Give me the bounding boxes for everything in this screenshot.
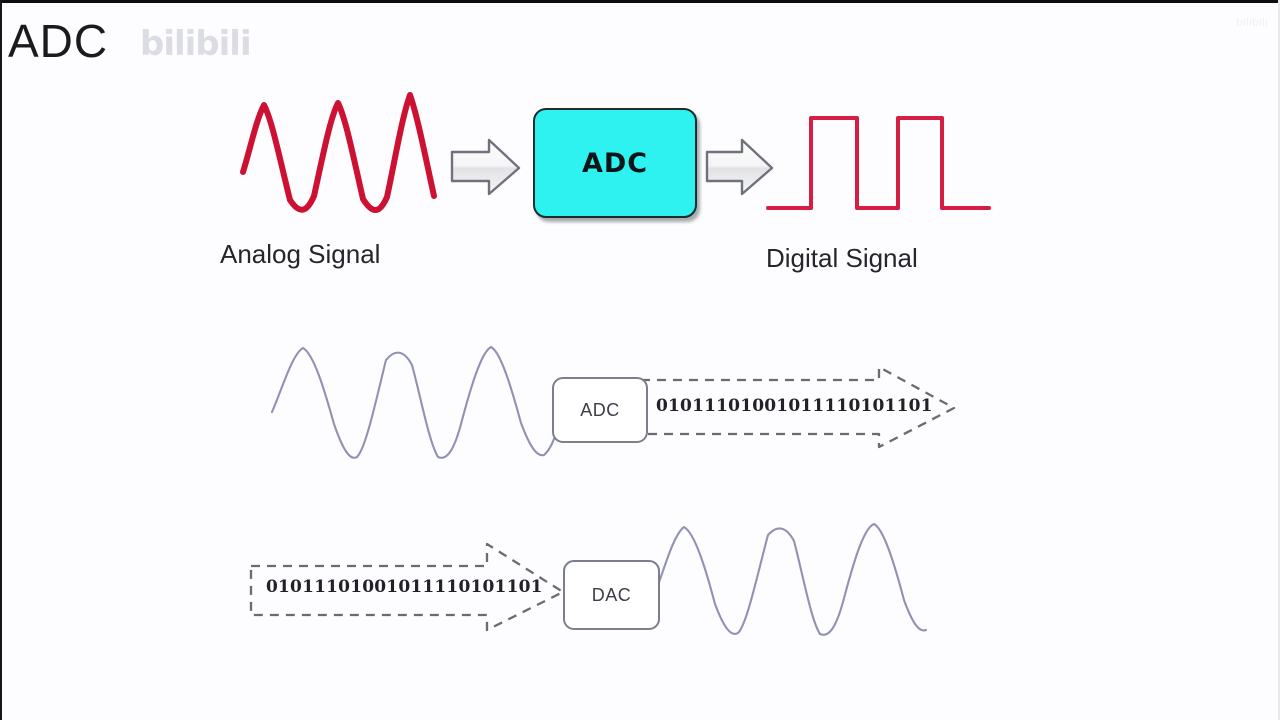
dac-row-sine-wave <box>655 524 926 635</box>
block-arrow-to-adc <box>452 140 519 194</box>
adc-converter-label: ADC <box>580 400 620 421</box>
adc-output-bitstream: 01011101001011110101101 <box>656 396 933 416</box>
dac-converter-label: DAC <box>592 585 632 606</box>
dac-converter-box[interactable]: DAC <box>563 560 660 630</box>
analog-signal-label: Analog Signal <box>220 239 380 270</box>
adc-converter-box[interactable]: ADC <box>552 377 648 443</box>
digital-square-wave <box>768 118 989 208</box>
adc-block-label: ADC <box>582 148 648 179</box>
adc-row-sine-wave <box>272 347 558 458</box>
adc-block[interactable]: ADC <box>533 108 697 218</box>
block-arrow-to-digital <box>707 140 772 194</box>
digital-signal-label: Digital Signal <box>766 243 918 274</box>
dac-input-bitstream: 01011101001011110101101 <box>266 577 543 597</box>
analog-sine-wave <box>243 95 434 210</box>
